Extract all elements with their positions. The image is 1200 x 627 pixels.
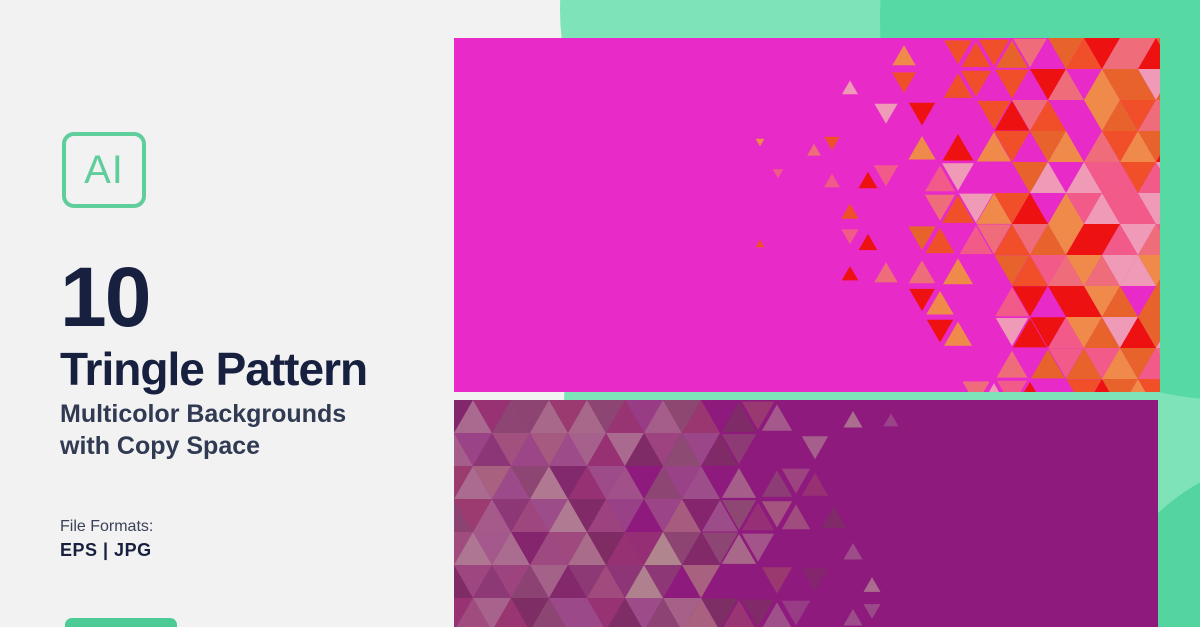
- cta-button[interactable]: [65, 618, 177, 627]
- info-column: AI 10 Tringle Pattern Multicolor Backgro…: [0, 0, 454, 627]
- file-formats-label: File Formats:: [60, 518, 153, 536]
- pink-triangle-pattern-graphic: [454, 38, 1160, 392]
- adobe-illustrator-badge-icon: AI: [62, 132, 146, 208]
- preview-panel-purple[interactable]: [454, 400, 1158, 627]
- item-count: 10: [60, 255, 149, 339]
- ai-badge-label: AI: [84, 150, 124, 190]
- file-formats-value: EPS | JPG: [60, 540, 152, 561]
- page-subtitle-line-2: with Copy Space: [60, 430, 460, 462]
- preview-panel-pink[interactable]: [454, 38, 1160, 392]
- page-title: Tringle Pattern: [60, 345, 367, 393]
- purple-triangle-pattern-graphic: [454, 400, 1158, 627]
- page-subtitle: Multicolor Backgrounds with Copy Space: [60, 398, 460, 462]
- page-subtitle-line-1: Multicolor Backgrounds: [60, 398, 460, 430]
